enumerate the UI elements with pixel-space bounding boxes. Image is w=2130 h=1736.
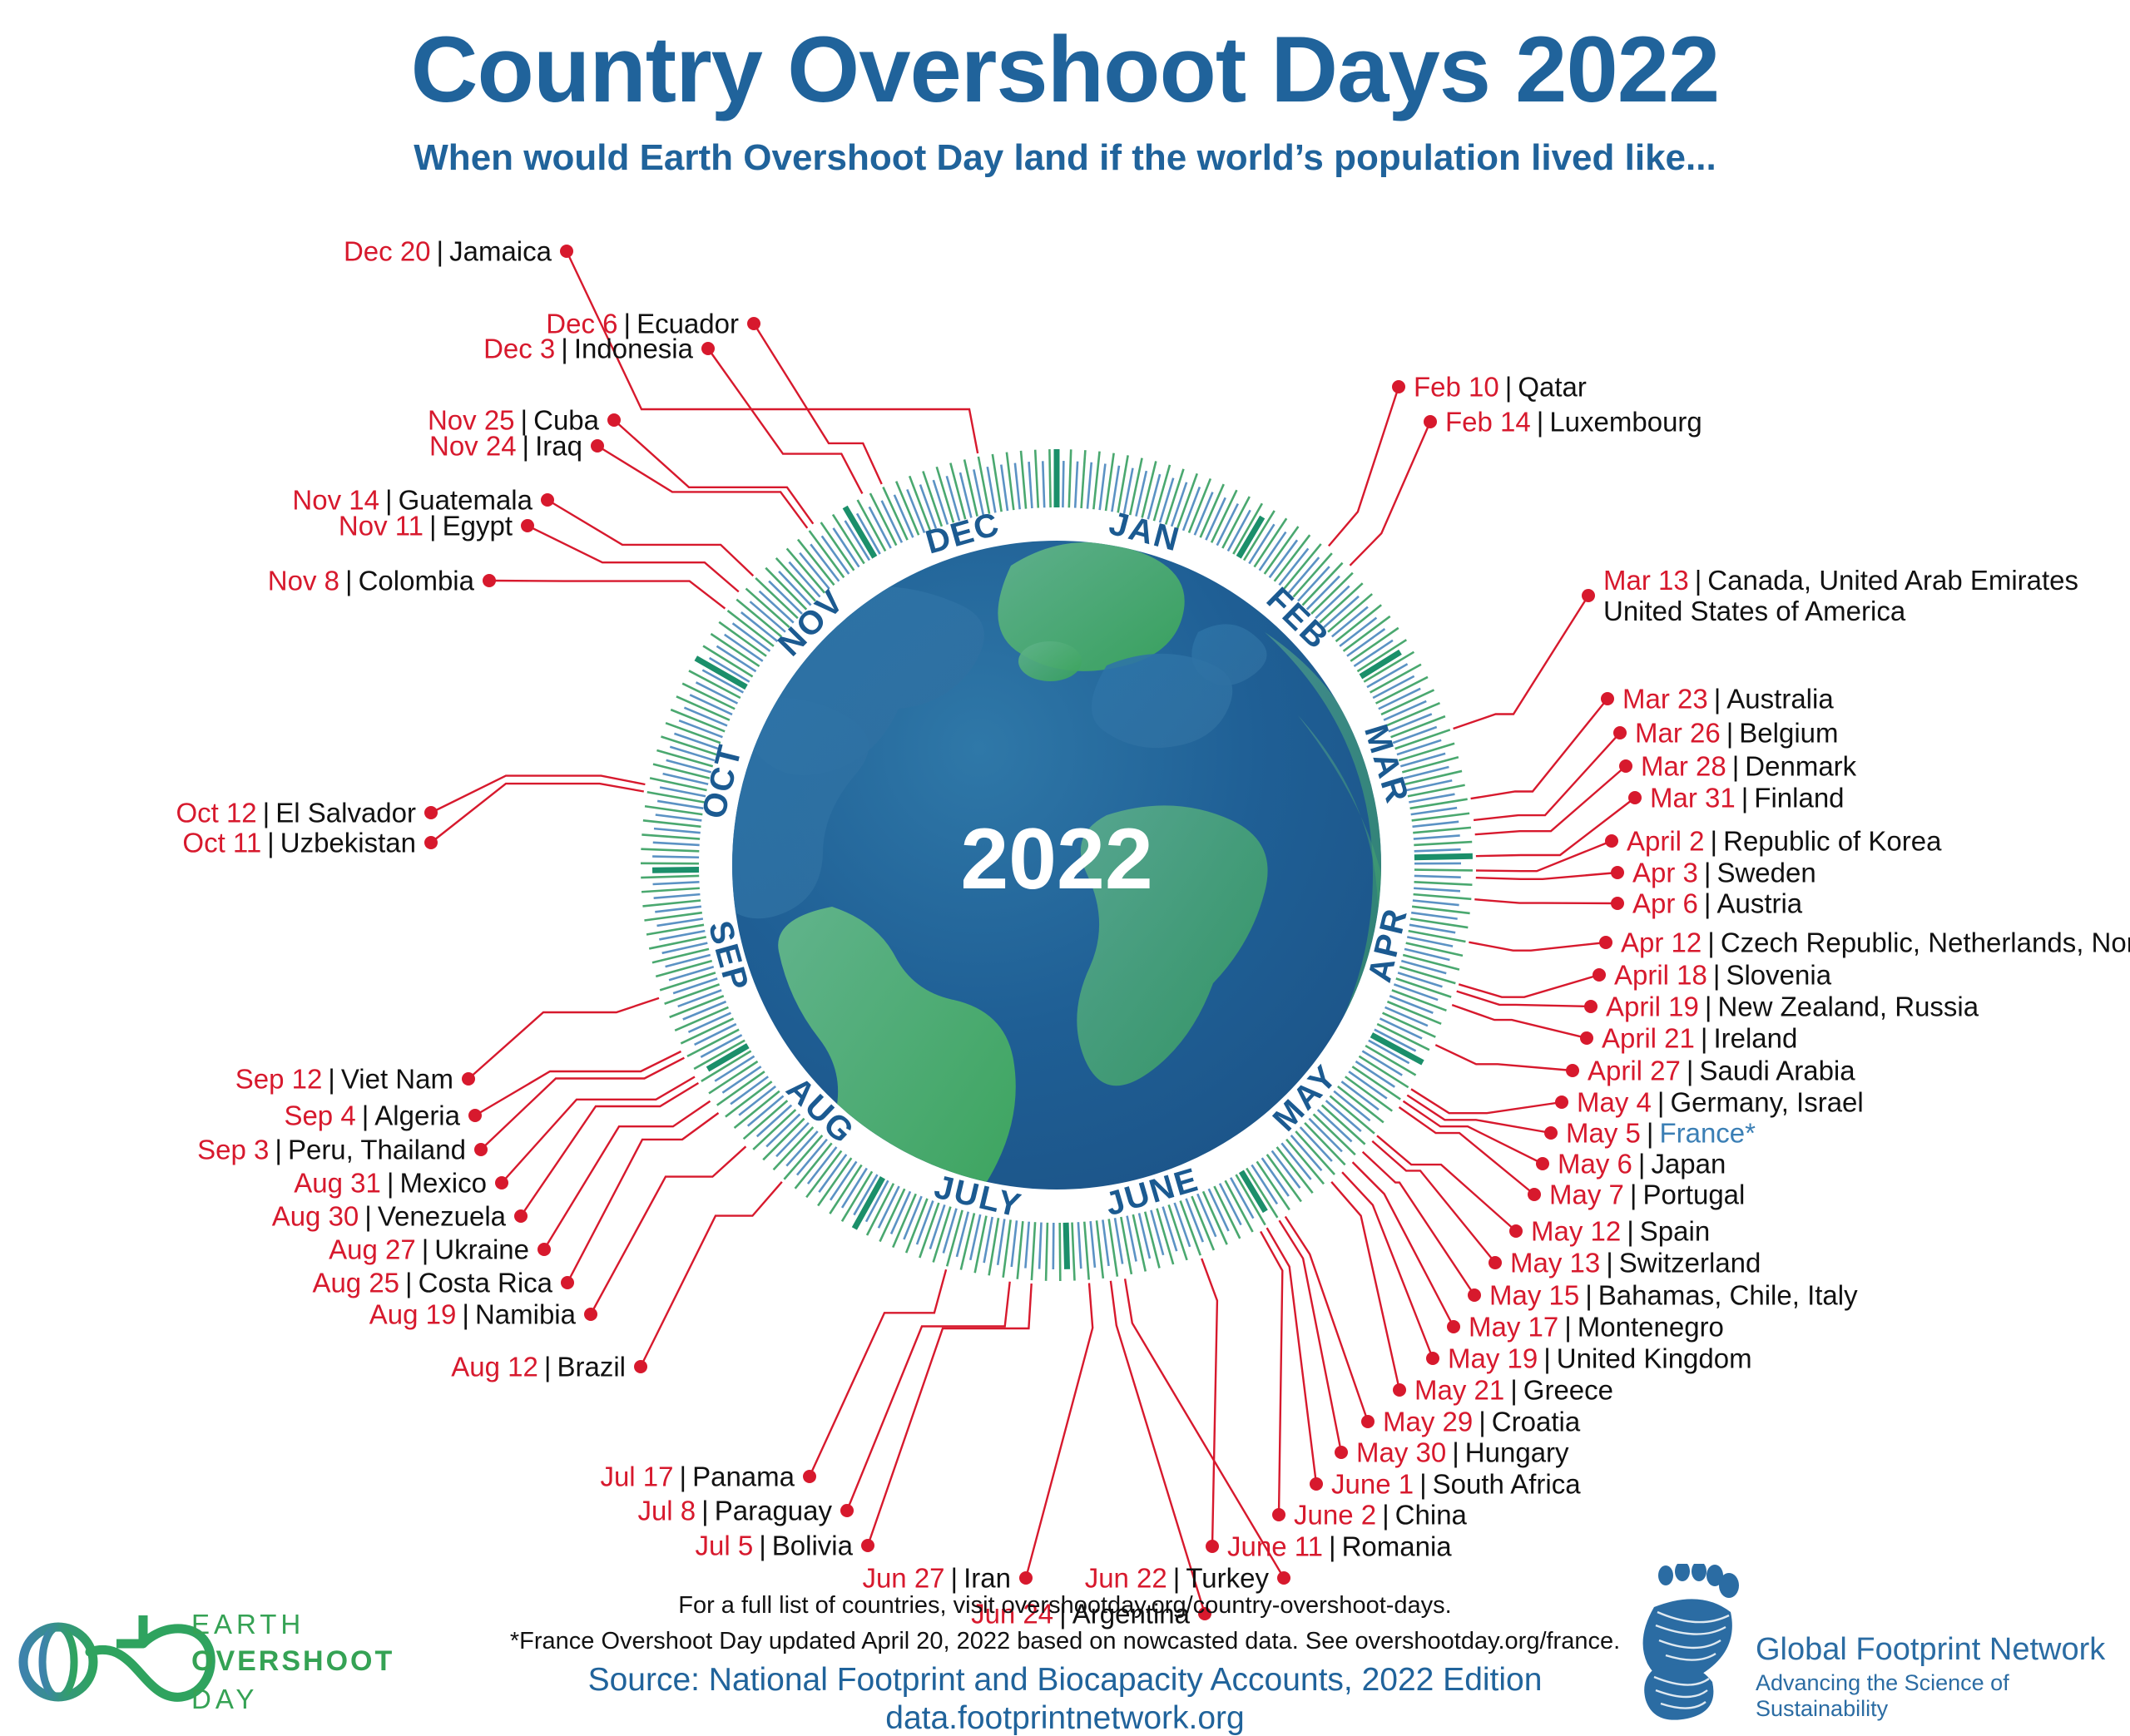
- leader-line-greece: [1331, 1182, 1399, 1390]
- day-tick: [950, 463, 965, 520]
- label-date: May 19: [1448, 1343, 1538, 1374]
- leader-line-ireland: [1452, 1005, 1587, 1038]
- label-countries: Qatar: [1518, 372, 1587, 403]
- label-date: Nov 11: [339, 511, 424, 542]
- leader-dot-japan: [1536, 1157, 1549, 1170]
- label-separator: |: [1579, 1280, 1598, 1311]
- leader-dot-spain: [1509, 1224, 1523, 1238]
- day-tick: [657, 919, 703, 926]
- label-countries: El Salvador: [275, 798, 416, 828]
- label-separator: |: [696, 1496, 715, 1526]
- leader-line-namibia: [591, 1146, 745, 1314]
- leader-dot-croatia: [1361, 1415, 1375, 1428]
- day-tick: [1046, 1223, 1048, 1281]
- leader-line-brazil: [641, 1182, 782, 1367]
- label-separator: |: [1376, 1500, 1395, 1531]
- label-separator: |: [1726, 751, 1746, 782]
- label-separator: |: [1499, 372, 1518, 403]
- leader-dot-iran: [1019, 1571, 1033, 1585]
- day-tick: [1365, 1046, 1415, 1075]
- label-date: May 15: [1489, 1280, 1579, 1311]
- label-date: Jul 8: [637, 1496, 696, 1526]
- day-tick: [652, 857, 699, 858]
- day-tick: [961, 1213, 974, 1269]
- day-tick: [1160, 478, 1173, 523]
- label-countries: New Zealand, Russia: [1717, 992, 1979, 1022]
- day-tick: [642, 900, 701, 906]
- day-tick: [1021, 451, 1026, 509]
- day-tick: [1012, 1220, 1017, 1267]
- day-tick: [776, 1123, 809, 1156]
- label-countries: Australia: [1726, 684, 1833, 715]
- label-date: Jun 22: [1085, 1563, 1167, 1594]
- country-label-egypt: Nov 11|Egypt: [339, 512, 513, 540]
- day-tick: [1148, 474, 1160, 519]
- leader-dot-guatemala: [541, 493, 554, 507]
- country-label-algeria: Sep 4|Algeria: [284, 1102, 460, 1130]
- day-tick: [1376, 677, 1428, 704]
- leader-line-luxembourg: [1350, 422, 1431, 566]
- country-label-namibia: Aug 19|Namibia: [369, 1301, 576, 1328]
- leader-dot-korea: [1605, 834, 1618, 848]
- country-label-iraq: Nov 24|Iraq: [429, 433, 582, 460]
- label-separator: |: [753, 1531, 772, 1561]
- leader-line-colombia: [489, 581, 725, 609]
- label-date: Aug 25: [312, 1268, 399, 1298]
- day-tick: [1414, 882, 1473, 884]
- day-tick: [964, 459, 978, 516]
- day-tick: [1298, 566, 1330, 601]
- label-separator: |: [538, 1352, 557, 1382]
- leader-dot-hungary: [1335, 1446, 1348, 1459]
- label-separator: |: [1702, 927, 1721, 958]
- country-label-australia: Mar 23|Australia: [1622, 685, 1834, 713]
- leader-dot-montenegro: [1447, 1320, 1460, 1333]
- leader-dot-saudi-arabia: [1566, 1064, 1579, 1077]
- day-tick: [1007, 453, 1013, 510]
- country-label-united-kingdom: May 19|United Kingdom: [1448, 1345, 1752, 1372]
- label-date: May 6: [1558, 1149, 1632, 1180]
- country-label-qatar: Feb 10|Qatar: [1414, 373, 1587, 401]
- day-tick: [666, 955, 711, 967]
- label-countries: Viet Nam: [341, 1064, 453, 1095]
- label-separator: |: [399, 1268, 419, 1298]
- label-separator: |: [381, 1168, 400, 1199]
- country-label-bahamas-chile-italy: May 15|Bahamas, Chile, Italy: [1489, 1282, 1858, 1309]
- leader-dot-namibia: [584, 1308, 597, 1321]
- label-separator: |: [431, 236, 450, 267]
- eod-logo-line3: DAY: [191, 1684, 258, 1715]
- label-countries: Saudi Arabia: [1699, 1056, 1855, 1086]
- day-tick: [689, 670, 741, 698]
- day-tick: [842, 1171, 872, 1221]
- label-date: June 11: [1227, 1531, 1323, 1562]
- country-label-iran: Jun 27|Iran: [862, 1565, 1011, 1592]
- label-separator: |: [269, 1135, 288, 1165]
- eod-logo-line1: EARTH: [191, 1609, 305, 1640]
- day-tick: [703, 645, 752, 676]
- label-date: Feb 10: [1414, 372, 1499, 403]
- label-countries: Canada, United Arab Emirates: [1707, 565, 2078, 596]
- label-date: Sep 12: [235, 1064, 323, 1095]
- label-countries: Romania: [1342, 1531, 1452, 1562]
- day-tick: [1075, 462, 1077, 508]
- leader-line-switzerland: [1372, 1141, 1495, 1263]
- label-countries: Peru, Thailand: [288, 1135, 466, 1165]
- leader-line-el-salvador: [431, 776, 645, 813]
- day-tick: [655, 907, 701, 912]
- leader-dot-romania: [1206, 1540, 1219, 1553]
- label-date: May 4: [1577, 1087, 1652, 1118]
- country-label-denmark: Mar 28|Denmark: [1641, 753, 1856, 780]
- leader-dot-portugal: [1528, 1188, 1541, 1201]
- day-tick: [1029, 462, 1033, 508]
- day-tick: [650, 778, 706, 790]
- day-tick: [1414, 856, 1473, 858]
- day-tick: [1413, 822, 1459, 827]
- day-tick: [1359, 1056, 1408, 1087]
- day-tick: [1413, 828, 1471, 833]
- leader-line-viet-nam: [468, 998, 659, 1079]
- leader-dot-qatar: [1392, 380, 1405, 393]
- label-separator: |: [257, 798, 276, 828]
- leader-dot-france: [1544, 1126, 1558, 1140]
- leader-dot-costa-rica: [561, 1276, 574, 1289]
- day-tick: [1326, 1100, 1361, 1131]
- label-countries: Iran: [963, 1563, 1011, 1594]
- center-year: 2022: [960, 811, 1152, 908]
- country-label-portugal: May 7|Portugal: [1549, 1181, 1745, 1209]
- day-tick: [1401, 961, 1446, 973]
- leader-line-sweden: [1476, 873, 1617, 879]
- label-separator: |: [1167, 1563, 1186, 1594]
- label-date: Mar 13: [1603, 565, 1689, 596]
- day-tick: [670, 747, 715, 760]
- leader-line-indonesia: [708, 349, 862, 493]
- label-separator: |: [339, 566, 359, 596]
- country-label-jamaica: Dec 20|Jamaica: [344, 238, 552, 265]
- label-date: Aug 19: [369, 1299, 457, 1330]
- leader-line-ecuador: [754, 324, 882, 484]
- country-label-france: May 5|France*: [1566, 1120, 1756, 1147]
- label-countries: Denmark: [1745, 751, 1856, 782]
- day-tick: [1078, 1222, 1081, 1269]
- day-tick: [1414, 894, 1472, 899]
- label-date: April 21: [1602, 1023, 1695, 1054]
- day-tick: [1066, 1223, 1067, 1269]
- label-countries: Belgium: [1739, 718, 1838, 749]
- label-countries: Republic of Korea: [1723, 826, 1941, 857]
- label-countries: United Kingdom: [1557, 1343, 1752, 1374]
- label-date: Feb 14: [1445, 407, 1531, 438]
- day-tick: [1414, 876, 1461, 878]
- leader-dot-belgium: [1613, 726, 1627, 739]
- label-countries: Uzbekistan: [280, 828, 416, 858]
- label-separator: |: [359, 1201, 378, 1232]
- leader-dot-austria: [1611, 897, 1624, 910]
- day-tick: [1281, 1143, 1310, 1180]
- leader-dot-indonesia: [701, 342, 715, 355]
- day-tick: [1406, 943, 1463, 956]
- day-tick: [649, 937, 706, 948]
- label-separator: |: [555, 334, 574, 364]
- day-tick: [1400, 754, 1445, 766]
- label-separator: |: [1504, 1375, 1523, 1406]
- label-separator: |: [1698, 858, 1717, 888]
- country-label-sweden: Apr 3|Sweden: [1632, 859, 1816, 887]
- day-tick: [1084, 1222, 1088, 1280]
- label-date: June 1: [1331, 1469, 1414, 1500]
- label-date: Dec 3: [483, 334, 555, 364]
- leader-line-venezuela: [521, 1083, 698, 1216]
- day-tick: [673, 978, 717, 993]
- leader-line-germany-israel: [1411, 1089, 1562, 1113]
- day-tick: [1145, 1212, 1159, 1269]
- day-tick: [1133, 1214, 1146, 1271]
- label-date: May 17: [1469, 1312, 1558, 1343]
- label-date: April 18: [1614, 960, 1707, 991]
- label-countries: Costa Rica: [419, 1268, 552, 1298]
- label-countries: South Africa: [1433, 1469, 1581, 1500]
- leader-line-south-africa: [1267, 1228, 1316, 1484]
- day-tick: [1093, 452, 1099, 510]
- leader-line-japan: [1404, 1101, 1543, 1164]
- day-tick: [641, 876, 699, 878]
- label-date: May 12: [1531, 1216, 1621, 1247]
- country-label-south-africa: June 1|South Africa: [1331, 1471, 1581, 1498]
- label-separator: |: [1624, 1180, 1643, 1210]
- day-tick: [1035, 450, 1038, 508]
- day-tick: [858, 500, 886, 551]
- day-tick: [1163, 1207, 1177, 1251]
- label-date: May 29: [1383, 1407, 1473, 1437]
- label-countries: Venezuela: [378, 1201, 506, 1232]
- label-countries: Greece: [1523, 1375, 1613, 1406]
- label-separator: |: [1681, 1056, 1700, 1086]
- label-countries: Iraq: [535, 431, 582, 462]
- label-date: Nov 24: [429, 431, 517, 462]
- leader-line-qatar: [1329, 387, 1399, 546]
- day-tick: [1414, 888, 1460, 892]
- day-tick: [1307, 576, 1340, 610]
- country-label-colombia: Nov 8|Colombia: [268, 567, 474, 595]
- label-countries: Jamaica: [449, 236, 552, 267]
- label-separator: |: [1531, 407, 1550, 438]
- label-countries: Finland: [1754, 783, 1844, 814]
- day-tick: [1341, 1081, 1379, 1110]
- day-tick: [947, 1210, 962, 1267]
- leader-dot-greece: [1393, 1383, 1406, 1397]
- day-tick: [766, 1114, 800, 1146]
- day-tick: [1130, 458, 1142, 516]
- country-label-nz-russia: April 19|New Zealand, Russia: [1606, 993, 1979, 1021]
- label-separator: |: [1323, 1531, 1342, 1562]
- label-separator: |: [456, 1299, 475, 1330]
- label-date: Mar 26: [1635, 718, 1721, 749]
- country-label-brazil: Aug 12|Brazil: [451, 1353, 626, 1381]
- day-tick: [870, 493, 896, 546]
- day-tick: [810, 544, 839, 581]
- earth-overshoot-day-logo: EARTH OVERSHOOT DAY: [18, 1604, 451, 1720]
- leader-line-romania: [1201, 1259, 1217, 1546]
- day-tick: [1371, 1035, 1423, 1062]
- label-separator: |: [1707, 960, 1726, 991]
- day-tick: [1039, 1223, 1041, 1269]
- country-label-turkey: Jun 22|Turkey: [1085, 1565, 1269, 1592]
- label-separator: |: [1632, 1149, 1652, 1180]
- label-date: June 2: [1294, 1500, 1376, 1531]
- leader-dot-brazil: [634, 1360, 647, 1373]
- day-tick: [934, 480, 948, 524]
- leader-line-czech-nl-no: [1469, 942, 1606, 951]
- leader-line-paraguay: [847, 1282, 1010, 1511]
- label-countries: Colombia: [359, 566, 474, 596]
- label-countries: Switzerland: [1619, 1248, 1761, 1279]
- leader-line-guatemala: [547, 500, 753, 576]
- country-label-viet-nam: Sep 12|Viet Nam: [235, 1066, 453, 1093]
- day-tick: [1398, 972, 1442, 987]
- label-date: Aug 31: [294, 1168, 381, 1199]
- day-tick: [1414, 849, 1461, 851]
- label-countries: Hungary: [1465, 1437, 1569, 1468]
- leader-line-mexico: [502, 1077, 695, 1184]
- label-countries: Namibia: [475, 1299, 576, 1330]
- day-tick: [748, 1096, 784, 1125]
- day-tick: [1402, 757, 1459, 772]
- label-countries: Spain: [1640, 1216, 1710, 1247]
- label-date: Aug 30: [272, 1201, 359, 1232]
- label-date: Jul 17: [600, 1462, 673, 1492]
- day-tick: [757, 1105, 792, 1137]
- leader-dot-nz-russia: [1584, 1000, 1597, 1013]
- day-tick: [1100, 464, 1106, 511]
- label-date: May 21: [1414, 1375, 1504, 1406]
- country-label-germany-israel: May 4|Germany, Israel: [1577, 1089, 1864, 1116]
- day-tick: [944, 1209, 957, 1254]
- leader-line-denmark: [1475, 766, 1626, 834]
- label-countries: France*: [1659, 1118, 1756, 1149]
- label-countries: Panama: [692, 1462, 795, 1492]
- day-tick: [797, 1140, 827, 1175]
- day-tick: [1015, 463, 1020, 510]
- label-separator: |: [356, 1100, 375, 1131]
- country-label-el-salvador: Oct 12|El Salvador: [176, 799, 416, 827]
- label-countries: Croatia: [1492, 1407, 1580, 1437]
- label-countries: Luxembourg: [1549, 407, 1702, 438]
- label-date: Mar 31: [1650, 783, 1736, 814]
- label-countries: Ukraine: [434, 1234, 529, 1265]
- day-tick: [652, 870, 699, 871]
- label-date: April 27: [1588, 1056, 1681, 1086]
- day-tick: [1412, 814, 1469, 821]
- day-tick: [1315, 586, 1350, 619]
- label-separator: |: [1699, 992, 1718, 1022]
- country-label-greece: May 21|Greece: [1414, 1377, 1613, 1404]
- day-tick: [1411, 808, 1457, 814]
- leader-dot-finland: [1628, 791, 1642, 804]
- label-separator: |: [674, 1462, 693, 1492]
- country-label-luxembourg: Feb 14|Luxembourg: [1445, 408, 1702, 436]
- label-separator: |: [1705, 826, 1724, 857]
- label-date: Nov 8: [268, 566, 339, 596]
- label-countries: Japan: [1651, 1149, 1726, 1180]
- day-tick: [654, 828, 701, 833]
- leader-line-uzbekistan: [431, 784, 644, 843]
- label-date: Sep 4: [284, 1100, 355, 1131]
- label-countries: Sweden: [1716, 858, 1815, 888]
- label-date: May 7: [1549, 1180, 1624, 1210]
- country-label-austria: Apr 6|Austria: [1632, 890, 1802, 917]
- day-tick: [641, 849, 699, 852]
- day-tick: [1414, 835, 1460, 838]
- label-separator: |: [1721, 718, 1740, 749]
- label-countries: Indonesia: [574, 334, 693, 364]
- country-label-panama: Jul 17|Panama: [600, 1463, 795, 1491]
- label-date: Jun 27: [862, 1563, 944, 1594]
- leader-dot-canada-uae-usa: [1582, 589, 1595, 602]
- leader-dot-turkey: [1277, 1571, 1290, 1585]
- label-separator: |: [322, 1064, 341, 1095]
- label-separator: |: [424, 511, 443, 542]
- label-countries: Bahamas, Chile, Italy: [1598, 1280, 1858, 1311]
- gfn-logo-tagline: Advancing the Science of Sustainability: [1756, 1670, 2120, 1722]
- global-footprint-network-logo: Global Footprint Network Advancing the S…: [1629, 1564, 2120, 1724]
- day-tick: [1060, 1223, 1061, 1281]
- day-tick: [696, 658, 746, 687]
- day-tick: [1018, 1221, 1023, 1279]
- country-label-montenegro: May 17|Montenegro: [1469, 1313, 1724, 1341]
- day-tick: [1394, 984, 1438, 1000]
- label-date: Oct 11: [182, 828, 261, 858]
- day-tick: [1069, 449, 1071, 507]
- label-separator: |: [416, 1234, 435, 1265]
- day-tick: [1377, 1024, 1429, 1050]
- day-tick: [1413, 900, 1459, 905]
- day-tick: [1032, 1222, 1035, 1280]
- day-tick: [845, 507, 875, 557]
- day-tick: [1414, 870, 1473, 871]
- leader-line-panama: [810, 1269, 946, 1476]
- day-tick: [1334, 1091, 1370, 1120]
- leader-dot-ecuador: [747, 317, 760, 330]
- day-tick: [1272, 1150, 1300, 1188]
- leader-dot-jamaica: [560, 245, 573, 258]
- label-countries: Czech Republic, Netherlands, Norway: [1721, 927, 2130, 958]
- day-tick: [666, 760, 711, 773]
- label-separator: |: [517, 431, 536, 462]
- label-separator: |: [1558, 1312, 1578, 1343]
- leader-dot-colombia: [483, 574, 496, 587]
- label-separator: |: [1698, 888, 1717, 919]
- day-tick: [1279, 548, 1308, 585]
- country-label-finland: Mar 31|Finland: [1650, 784, 1845, 812]
- label-countries: Portugal: [1642, 1180, 1745, 1210]
- label-separator: |: [1621, 1216, 1640, 1247]
- day-tick: [1214, 1186, 1240, 1239]
- day-tick: [1097, 1220, 1103, 1279]
- label-date: May 13: [1510, 1248, 1600, 1279]
- day-tick: [654, 894, 701, 898]
- label-countries: Ireland: [1713, 1023, 1797, 1054]
- day-tick: [930, 1204, 945, 1249]
- country-label-china: June 2|China: [1294, 1501, 1467, 1529]
- country-label-bolivia: Jul 5|Bolivia: [695, 1532, 853, 1560]
- day-tick: [1397, 740, 1441, 754]
- leader-dot-germany-israel: [1555, 1096, 1568, 1109]
- leader-dot-mexico: [495, 1176, 508, 1189]
- leader-dot-bolivia: [861, 1539, 874, 1552]
- label-date: Apr 6: [1632, 888, 1698, 919]
